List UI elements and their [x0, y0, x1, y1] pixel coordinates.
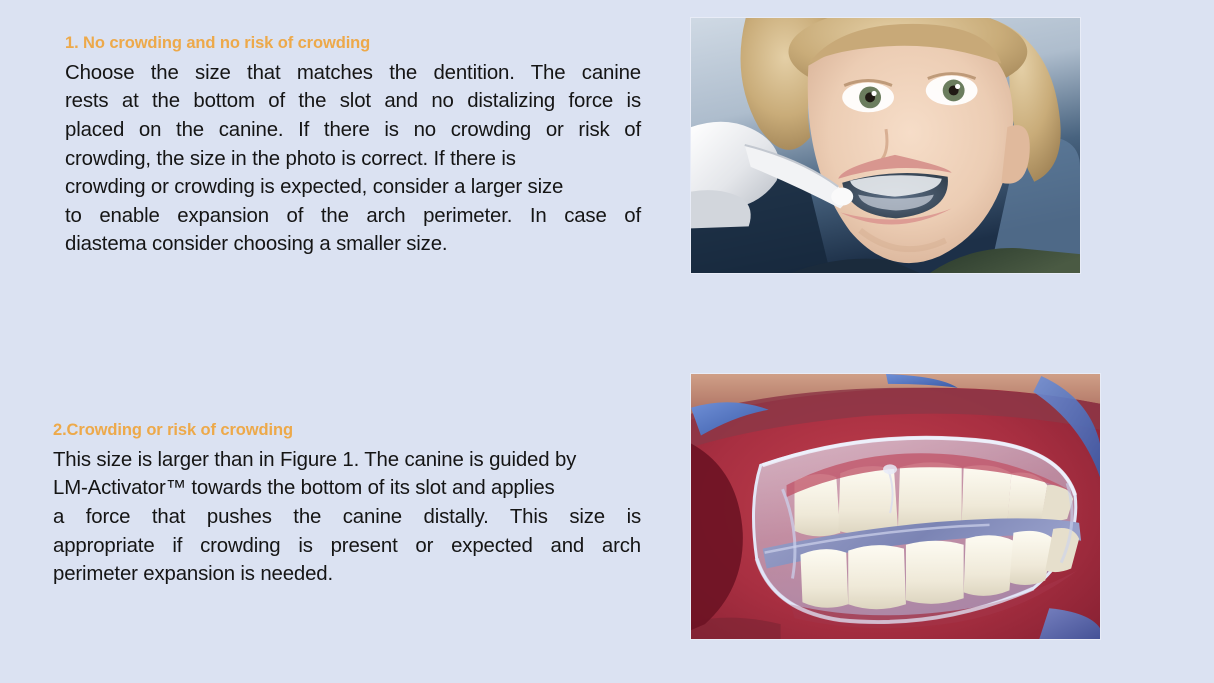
intraoral-photo-graphic: [691, 374, 1100, 639]
slide-page: 1. No crowding and no risk of crowding C…: [0, 0, 1214, 683]
section-1-text-column: 1. No crowding and no risk of crowding C…: [53, 34, 653, 259]
section-2-heading: 2.Crowding or risk of crowding: [53, 421, 653, 441]
child-with-dental-appliance-photo: [690, 17, 1081, 274]
child-photo-graphic: [691, 18, 1080, 273]
section-1-line-2: rests at the bottom of the slot and no d…: [65, 87, 641, 116]
section-1-line-3: placed on the canine. If there is no cro…: [65, 116, 641, 145]
section-2-line-4: appropriate if crowding is present or ex…: [53, 532, 641, 561]
section-1-line-5: crowding or crowding is expected, consid…: [65, 173, 641, 202]
section-1-heading: 1. No crowding and no risk of crowding: [53, 34, 653, 54]
section-2-line-5: perimeter expansion is needed.: [53, 560, 641, 589]
section-1-line-7: diastema consider choosing a smaller siz…: [65, 230, 641, 259]
section-2-body: This size is larger than in Figure 1. Th…: [53, 446, 641, 589]
section-2-line-3: a force that pushes the canine distally.…: [53, 503, 641, 532]
section-2-line-1: This size is larger than in Figure 1. Th…: [53, 446, 641, 475]
intraoral-appliance-photo: [690, 373, 1101, 640]
section-1-line-4: crowding, the size in the photo is corre…: [65, 145, 641, 174]
section-1-line-6: to enable expansion of the arch perimete…: [65, 202, 641, 231]
section-1-line-1: Choose the size that matches the dentiti…: [65, 59, 641, 88]
section-1-body: Choose the size that matches the dentiti…: [53, 59, 641, 259]
section-2-line-2: LM-Activator™ towards the bottom of its …: [53, 474, 641, 503]
section-2-text-column: 2.Crowding or risk of crowding This size…: [53, 421, 653, 589]
